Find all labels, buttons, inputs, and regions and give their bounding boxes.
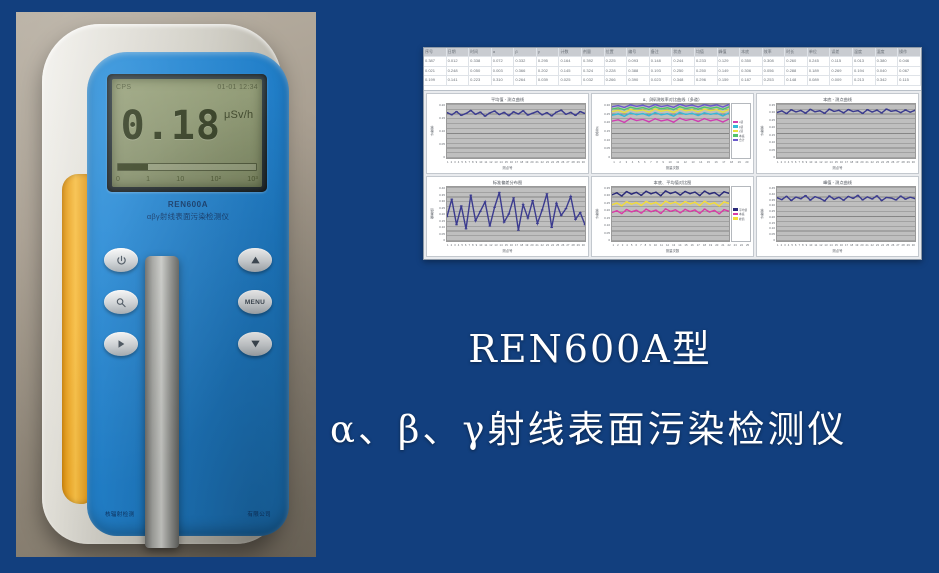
series-point: [691, 109, 694, 110]
spreadsheet-cell[interactable]: 0.129: [718, 57, 741, 65]
series-point: [617, 105, 620, 106]
spreadsheet-cell[interactable]: 0.250: [695, 67, 718, 75]
y-tick: 0.30: [435, 199, 445, 203]
series-point: [583, 224, 585, 225]
series-point: [856, 195, 859, 196]
x-tick: 14: [500, 243, 503, 247]
x-tick: 23: [546, 243, 549, 247]
series-point: [691, 104, 694, 105]
spreadsheet-header-cell[interactable]: 温度: [853, 48, 876, 56]
series-point: [660, 114, 663, 115]
series-point: [871, 198, 874, 199]
spreadsheet-row[interactable]: 0.3870.0120.3380.0720.3320.2950.1640.392…: [424, 57, 921, 66]
spreadsheet-cell[interactable]: 0.189: [808, 67, 831, 75]
analysis-software-screenshot: 序号日期时间αβγ计数剂量位置编号备注状态均值峰值本底效率时长单位误差温度湿度操…: [423, 47, 922, 260]
series-point: [642, 107, 645, 108]
series-point: [629, 118, 632, 119]
y-tick: 0.20: [765, 215, 775, 219]
x-tick: 20: [530, 160, 533, 164]
spreadsheet-row[interactable]: 0.0210.2480.0500.0030.3660.2020.1450.324…: [424, 67, 921, 76]
y-tick: 0.25: [600, 112, 610, 116]
series-point: [780, 110, 783, 111]
x-tick: 2: [781, 160, 783, 164]
series-point: [899, 196, 902, 197]
x-tick: 4: [788, 160, 790, 164]
series-point: [669, 193, 672, 194]
spreadsheet-cell[interactable]: 0.223: [469, 76, 492, 84]
series-point: [635, 114, 638, 115]
spreadsheet-cell[interactable]: 0.021: [424, 67, 447, 75]
chart-legend[interactable]: α道β道γ道本底合计: [731, 103, 751, 159]
lcd-status-left: CPS: [116, 84, 131, 91]
spreadsheet-cell[interactable]: 0.067: [898, 67, 921, 75]
spreadsheet-cell[interactable]: 0.387: [424, 57, 447, 65]
series-point: [691, 113, 694, 114]
spreadsheet-cell[interactable]: 0.296: [695, 76, 718, 84]
series-point: [861, 199, 864, 200]
series-point: [512, 111, 515, 112]
series-point: [550, 115, 553, 116]
series-point: [493, 110, 496, 111]
x-tick: 15: [707, 160, 710, 164]
spreadsheet-cell[interactable]: 0.115: [830, 57, 853, 65]
y-axis-ticks: 0.300.250.200.150.100.050: [600, 103, 611, 159]
spreadsheet-cell[interactable]: 0.023: [650, 76, 673, 84]
series-point: [818, 198, 821, 199]
spreadsheet-cell[interactable]: 0.003: [492, 67, 515, 75]
series-point: [697, 121, 700, 122]
x-tick: 1: [613, 160, 615, 164]
spreadsheet-cell[interactable]: 0.193: [650, 67, 673, 75]
y-tick: 0.05: [600, 146, 610, 150]
x-tick: 3: [784, 160, 786, 164]
x-tick: 23: [734, 243, 737, 247]
spreadsheet-cell[interactable]: 0.148: [785, 76, 808, 84]
spreadsheet-header-cell[interactable]: 剂量: [582, 48, 605, 56]
series-point: [447, 216, 449, 217]
spreadsheet-cell[interactable]: 0.213: [853, 76, 876, 84]
x-tick: 15: [835, 243, 838, 247]
chart-panel-1[interactable]: 平均值 - 测点曲线计数率0.200.150.100.0501234567891…: [426, 93, 589, 174]
spreadsheet-cell[interactable]: 0.248: [447, 67, 470, 75]
spreadsheet-header-cell[interactable]: 误差: [830, 48, 853, 56]
lcd-reading: 0.18 μSv/h: [112, 95, 262, 157]
lcd-scale-tick: 10: [176, 176, 184, 183]
spreadsheet-cell[interactable]: 0.266: [605, 76, 628, 84]
spreadsheet-cell[interactable]: 0.308: [763, 57, 786, 65]
spreadsheet-header-cell[interactable]: 编号: [627, 48, 650, 56]
x-tick: 9: [806, 243, 808, 247]
x-tick: 2: [617, 243, 619, 247]
series-point: [833, 111, 836, 112]
search-button[interactable]: [104, 290, 138, 314]
spreadsheet-header-cell[interactable]: 时长: [785, 48, 808, 56]
spreadsheet-cell[interactable]: 0.350: [740, 57, 763, 65]
spreadsheet-cell[interactable]: 0.046: [898, 57, 921, 65]
x-tick: 28: [902, 160, 905, 164]
x-tick: 23: [876, 160, 879, 164]
series-point: [484, 116, 487, 117]
charts-grid: 平均值 - 测点曲线计数率0.200.150.100.0501234567891…: [424, 91, 921, 259]
spreadsheet-cell[interactable]: 0.264: [514, 76, 537, 84]
y-tick: 0.25: [600, 201, 610, 205]
series-point: [678, 108, 681, 109]
spreadsheet-cell[interactable]: 0.012: [447, 57, 470, 65]
legend-swatch: [733, 125, 738, 128]
series-point: [474, 114, 477, 115]
spreadsheet-header-cell[interactable]: 位置: [605, 48, 628, 56]
series-point: [880, 112, 883, 113]
series-point: [620, 205, 623, 206]
series-point: [654, 112, 657, 113]
spreadsheet-cell[interactable]: 0.039: [537, 76, 560, 84]
x-tick: 29: [907, 160, 910, 164]
spreadsheet-cell[interactable]: 0.250: [672, 67, 695, 75]
spreadsheet-header-cell[interactable]: 状态: [672, 48, 695, 56]
spreadsheet-cell[interactable]: 0.288: [785, 67, 808, 75]
spreadsheet-cell[interactable]: 0.225: [605, 57, 628, 65]
series-point: [545, 112, 548, 113]
series-point: [679, 204, 682, 205]
spreadsheet-header-cell[interactable]: 序号: [424, 48, 447, 56]
y-axis-ticks: 0.200.150.100.050: [435, 103, 446, 159]
series-point: [536, 111, 539, 112]
series-point: [703, 208, 706, 209]
series-point: [837, 110, 840, 111]
series-point: [648, 121, 651, 122]
y-tick: 0.30: [765, 203, 775, 207]
x-tick: 13: [494, 160, 497, 164]
spreadsheet-cell[interactable]: 0.194: [853, 67, 876, 75]
series-point: [684, 209, 687, 210]
spreadsheet-cell[interactable]: 0.025: [559, 76, 582, 84]
x-tick: 28: [572, 160, 575, 164]
series-point: [818, 110, 821, 111]
series-point: [678, 112, 681, 113]
x-tick: 12: [819, 243, 822, 247]
x-tick: 15: [684, 243, 687, 247]
y-tick: 0.05: [600, 231, 610, 235]
spreadsheet-header-cell[interactable]: 操作: [898, 48, 921, 56]
spreadsheet-cell[interactable]: 0.310: [492, 76, 515, 84]
product-photo: CPS 01-01 12:34 0.18 μSv/h 011010²10³ RE…: [16, 12, 316, 557]
series-point: [703, 201, 706, 202]
spreadsheet-header-cell[interactable]: 本底: [740, 48, 763, 56]
series-point: [522, 204, 525, 205]
spreadsheet-cell[interactable]: 0.295: [537, 57, 560, 65]
series-point: [722, 106, 725, 107]
spreadsheet-cell[interactable]: 0.348: [672, 76, 695, 84]
series-point: [507, 213, 510, 214]
x-tick: 17: [515, 243, 518, 247]
spreadsheet-cell[interactable]: 0.366: [514, 67, 537, 75]
lcd-scale-tick: 10²: [211, 176, 222, 183]
chart-panel-2[interactable]: α、β探测效率对比曲线（多道）效率%0.300.250.200.150.100.…: [591, 93, 754, 174]
lcd-bargraph: [117, 163, 257, 171]
menu-button[interactable]: MENU: [238, 290, 272, 314]
y-tick: 0.10: [435, 129, 445, 133]
x-tick: 25: [556, 243, 559, 247]
y-tick: 0.15: [765, 221, 775, 225]
spreadsheet-cell[interactable]: 0.187: [740, 76, 763, 84]
series-point: [629, 104, 632, 105]
series-point: [635, 202, 638, 203]
x-tick: 18: [850, 160, 853, 164]
spreadsheet-cell[interactable]: 0.260: [785, 57, 808, 65]
spreadsheet-cell[interactable]: 0.199: [424, 76, 447, 84]
spreadsheet-header-cell[interactable]: 单位: [808, 48, 831, 56]
series-point: [804, 195, 807, 196]
series-point: [894, 199, 897, 200]
x-tick: 14: [830, 243, 833, 247]
series-point: [674, 202, 677, 203]
legend-label: 本底: [739, 212, 745, 216]
spreadsheet-header-cell[interactable]: 计数: [559, 48, 582, 56]
series-point: [655, 210, 658, 211]
series-point: [842, 200, 845, 201]
series-point: [488, 226, 491, 227]
up-button[interactable]: [238, 248, 272, 272]
spreadsheet-area: 序号日期时间αβγ计数剂量位置编号备注状态均值峰值本底效率时长单位误差温度湿度操…: [424, 48, 921, 91]
x-tick: 7: [650, 160, 652, 164]
series-point: [460, 115, 463, 116]
spreadsheet-cell[interactable]: 0.332: [514, 57, 537, 65]
series-point: [654, 104, 657, 105]
y-tick: 0.35: [765, 103, 775, 107]
series-point: [828, 109, 831, 110]
chart-panel-3[interactable]: 本底 - 测点曲线计数率0.350.300.250.200.150.100.05…: [756, 93, 919, 174]
spreadsheet-cell[interactable]: 0.115: [898, 76, 921, 84]
spreadsheet-cell[interactable]: 0.089: [808, 76, 831, 84]
power-button[interactable]: [104, 248, 138, 272]
spreadsheet-cell[interactable]: 0.269: [830, 67, 853, 75]
x-tick: 17: [845, 160, 848, 164]
spreadsheet-cell[interactable]: 0.050: [469, 67, 492, 75]
spreadsheet-cell[interactable]: 0.245: [808, 57, 831, 65]
series-point: [512, 197, 515, 198]
spreadsheet-header-cell[interactable]: 时间: [469, 48, 492, 56]
chart-panel-5[interactable]: 本底、平均值对比图计数率0.350.300.250.200.150.100.05…: [591, 176, 754, 257]
spreadsheet-cell[interactable]: 0.093: [627, 57, 650, 65]
series-point: [723, 209, 726, 210]
series-point: [890, 111, 893, 112]
spreadsheet-row[interactable]: 0.1990.1410.2230.3100.2640.0390.0250.032…: [424, 76, 921, 85]
series-point: [684, 191, 687, 192]
series-point: [635, 108, 638, 109]
series-point: [555, 112, 558, 113]
series-point: [666, 107, 669, 108]
x-tick: 2: [619, 160, 621, 164]
x-tick: 12: [489, 160, 492, 164]
spreadsheet-cell[interactable]: 0.380: [876, 57, 899, 65]
series-point: [469, 110, 472, 111]
series-point: [465, 113, 468, 114]
series-point: [645, 201, 648, 202]
x-tick: 10: [654, 243, 657, 247]
x-tick: 12: [666, 243, 669, 247]
series-point: [713, 210, 716, 211]
spreadsheet-header-cell[interactable]: β: [514, 48, 537, 56]
x-tick: 1: [447, 243, 449, 247]
x-tick: 6: [795, 243, 797, 247]
series-point: [672, 107, 675, 108]
spreadsheet-cell[interactable]: 0.013: [853, 57, 876, 65]
spreadsheet-row[interactable]: 序号日期时间αβγ计数剂量位置编号备注状态均值峰值本底效率时长单位误差温度湿度操…: [424, 48, 921, 57]
series-point: [698, 213, 701, 214]
y-tick: 0.25: [435, 206, 445, 210]
chart-series-layer: [777, 104, 915, 158]
spreadsheet-header-cell[interactable]: γ: [537, 48, 560, 56]
spreadsheet-cell[interactable]: 0.233: [695, 57, 718, 65]
spreadsheet-header-cell[interactable]: 峰值: [718, 48, 741, 56]
play-button[interactable]: [104, 332, 138, 356]
series-point: [823, 113, 826, 114]
legend-swatch: [733, 134, 738, 137]
series-point: [856, 110, 859, 111]
spreadsheet-cell[interactable]: 0.202: [537, 67, 560, 75]
series-point: [625, 191, 628, 192]
series-point: [635, 192, 638, 193]
series-point: [885, 197, 888, 198]
series-point: [664, 190, 667, 191]
series-point: [722, 112, 725, 113]
y-tick: 0.20: [435, 212, 445, 216]
series-point: [564, 114, 567, 115]
spreadsheet-cell[interactable]: 0.390: [627, 76, 650, 84]
spreadsheet-cell[interactable]: 0.342: [876, 76, 899, 84]
x-tick: 6: [644, 160, 646, 164]
spreadsheet-cell[interactable]: 0.388: [627, 67, 650, 75]
x-tick: 21: [866, 243, 869, 247]
x-tick: 11: [814, 243, 817, 247]
chart-panel-6[interactable]: 峰值 - 测点曲线计数率0.450.400.350.300.250.200.15…: [756, 176, 919, 257]
series-point: [635, 120, 638, 121]
series-point: [703, 112, 706, 113]
spreadsheet-cell[interactable]: 0.149: [718, 67, 741, 75]
x-tick: 5: [791, 243, 793, 247]
spreadsheet-cell[interactable]: 0.159: [718, 76, 741, 84]
series-point: [574, 219, 577, 220]
spreadsheet-header-cell[interactable]: 日期: [447, 48, 470, 56]
series-point: [579, 212, 582, 213]
spreadsheet-cell[interactable]: 0.141: [447, 76, 470, 84]
x-tick: 5: [461, 243, 463, 247]
x-tick: 14: [830, 160, 833, 164]
spreadsheet-cell[interactable]: 0.164: [559, 57, 582, 65]
series-point: [785, 113, 788, 114]
series-point: [880, 200, 883, 201]
spreadsheet-cell[interactable]: 0.306: [740, 67, 763, 75]
x-tick: 7: [468, 160, 470, 164]
series-point: [708, 193, 711, 194]
series-point: [640, 212, 643, 213]
series-point: [659, 213, 662, 214]
x-tick: 20: [715, 243, 718, 247]
series-point: [678, 118, 681, 119]
spreadsheet-cell[interactable]: 0.338: [469, 57, 492, 65]
spreadsheet-header-cell[interactable]: 均值: [695, 48, 718, 56]
x-tick: 19: [525, 160, 528, 164]
x-tick: 17: [515, 160, 518, 164]
x-tick: 15: [835, 160, 838, 164]
x-axis-label: 测点号: [429, 248, 586, 254]
x-tick: 6: [635, 243, 637, 247]
series-point: [722, 121, 725, 122]
spreadsheet-header-cell[interactable]: 备注: [650, 48, 673, 56]
series-point: [689, 211, 692, 212]
lcd-unit: μSv/h: [224, 109, 253, 121]
spreadsheet-cell[interactable]: 0.244: [672, 57, 695, 65]
x-tick: 16: [510, 160, 513, 164]
spreadsheet-cell[interactable]: 0.009: [830, 76, 853, 84]
series-point: [660, 106, 663, 107]
x-tick: 1: [613, 243, 615, 247]
series-point: [866, 109, 869, 110]
x-axis-label: 测点号: [759, 248, 916, 254]
spreadsheet-cell[interactable]: 0.253: [763, 76, 786, 84]
chart-body: 计数率0.200.150.100.050: [429, 103, 586, 159]
x-tick: 24: [551, 160, 554, 164]
x-tick: 13: [691, 160, 694, 164]
chart-plot-area: [611, 186, 730, 242]
legend-label: 合计: [739, 138, 745, 142]
spreadsheet-cell[interactable]: 0.040: [876, 67, 899, 75]
x-axis-label: 测量次数: [594, 248, 751, 254]
series-point: [679, 194, 682, 195]
spreadsheet-cell[interactable]: 0.145: [559, 67, 582, 75]
series-point: [722, 109, 725, 110]
y-tick: 0.05: [435, 142, 445, 146]
series-point: [564, 208, 567, 209]
magnifier-icon: [115, 297, 127, 308]
series-point: [488, 112, 491, 113]
series-point: [479, 211, 482, 212]
series-point: [450, 199, 453, 200]
spreadsheet-header-cell[interactable]: 效率: [763, 48, 786, 56]
series-point: [674, 209, 677, 210]
spreadsheet-cell[interactable]: 0.228: [605, 67, 628, 75]
x-tick: 1: [777, 160, 779, 164]
spreadsheet-header-cell[interactable]: 湿度: [876, 48, 899, 56]
down-button[interactable]: [238, 332, 272, 356]
series-point: [847, 109, 850, 110]
series-point: [698, 205, 701, 206]
spreadsheet-cell[interactable]: 0.056: [763, 67, 786, 75]
x-tick: 20: [745, 160, 748, 164]
series-point: [460, 205, 463, 206]
series-point: [795, 196, 798, 197]
x-tick: 2: [451, 243, 453, 247]
series-point: [899, 112, 902, 113]
spreadsheet-cell[interactable]: 0.072: [492, 57, 515, 65]
spreadsheet-cell[interactable]: 0.148: [650, 57, 673, 65]
chart-panel-4[interactable]: 标准偏差分布图偏差值0.400.350.300.250.200.150.100.…: [426, 176, 589, 257]
spreadsheet-cell[interactable]: 0.392: [582, 57, 605, 65]
chart-legend[interactable]: 平均值本底峰值: [731, 186, 751, 242]
spreadsheet-header-cell[interactable]: α: [492, 48, 515, 56]
spreadsheet-cell[interactable]: 0.032: [582, 76, 605, 84]
chart-title: 本底、平均值对比图: [594, 179, 751, 186]
x-tick: 15: [505, 243, 508, 247]
x-tick: 3: [626, 160, 628, 164]
series-point: [517, 230, 520, 231]
series-point: [685, 114, 688, 115]
legend-entry: 本底: [733, 212, 749, 216]
spreadsheet-cell[interactable]: 0.324: [582, 67, 605, 75]
x-tick: 11: [814, 160, 817, 164]
chart-title: 平均值 - 测点曲线: [429, 96, 586, 103]
series-line: [777, 195, 915, 201]
